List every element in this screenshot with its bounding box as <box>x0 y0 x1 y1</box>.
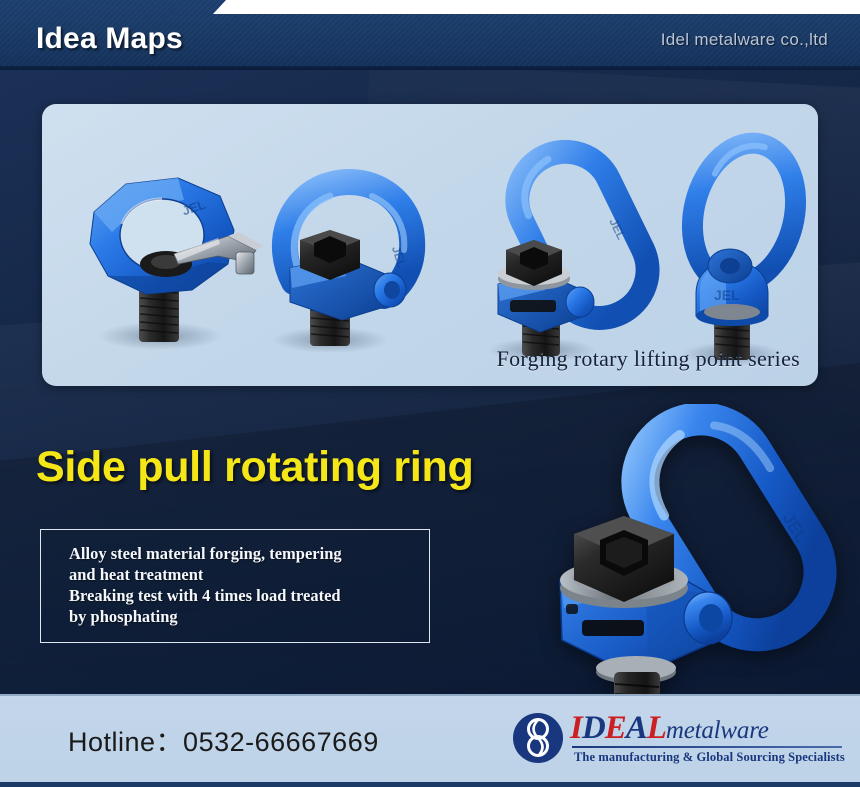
product-gallery-panel: JEL <box>42 104 818 386</box>
logo-wordmark: IDEALmetalware <box>570 710 769 747</box>
interlocking-rings-icon <box>512 712 564 764</box>
panel-caption: Forging rotary lifting point series <box>497 346 800 372</box>
feature-line-3: Breaking test with 4 times load treated <box>69 585 342 606</box>
feature-box: Alloy steel material forging, tempering … <box>40 529 430 643</box>
logo-letter-e: E <box>605 710 626 746</box>
logo-letter-i: I <box>570 710 582 746</box>
logo-tagline: The manufacturing & Global Sourcing Spec… <box>574 750 845 765</box>
logo-subword: metalware <box>666 717 769 744</box>
company-logo: IDEALmetalware The manufacturing & Globa… <box>512 708 852 776</box>
svg-text:JEL: JEL <box>714 287 740 303</box>
footer-bottom-divider <box>0 782 860 787</box>
hotline-text: Hotline：0532-66667669 <box>68 720 379 759</box>
company-name: Idel metalware co.,ltd <box>661 30 828 50</box>
header-underline <box>0 66 860 70</box>
gallery-item-4: JEL <box>678 132 810 366</box>
hero-product-illustration: JEL <box>496 404 860 734</box>
logo-letter-a: A <box>626 710 647 746</box>
gallery-item-1: JEL <box>90 178 264 350</box>
page-title: Idea Maps <box>36 22 183 56</box>
product-gallery-illustration: JEL <box>42 104 818 386</box>
poster-canvas: Idea Maps Idel metalware co.,ltd <box>0 0 860 787</box>
hotline-label: Hotline： <box>68 727 183 757</box>
feature-list: Alloy steel material forging, tempering … <box>69 543 342 627</box>
footer-top-divider <box>0 694 860 696</box>
headline: Side pull rotating ring <box>36 443 473 492</box>
logo-divider <box>572 746 842 748</box>
gallery-item-3: JEL <box>488 136 664 362</box>
hotline-number: 0532-66667669 <box>183 727 379 757</box>
logo-letter-d: D <box>582 710 605 746</box>
feature-line-1: Alloy steel material forging, tempering <box>69 543 342 564</box>
header-white-notch <box>213 0 860 14</box>
gallery-item-2: JEL <box>272 182 412 353</box>
feature-line-4: by phosphating <box>69 606 342 627</box>
feature-line-2: and heat treatment <box>69 564 342 585</box>
logo-letter-l: L <box>647 710 666 746</box>
